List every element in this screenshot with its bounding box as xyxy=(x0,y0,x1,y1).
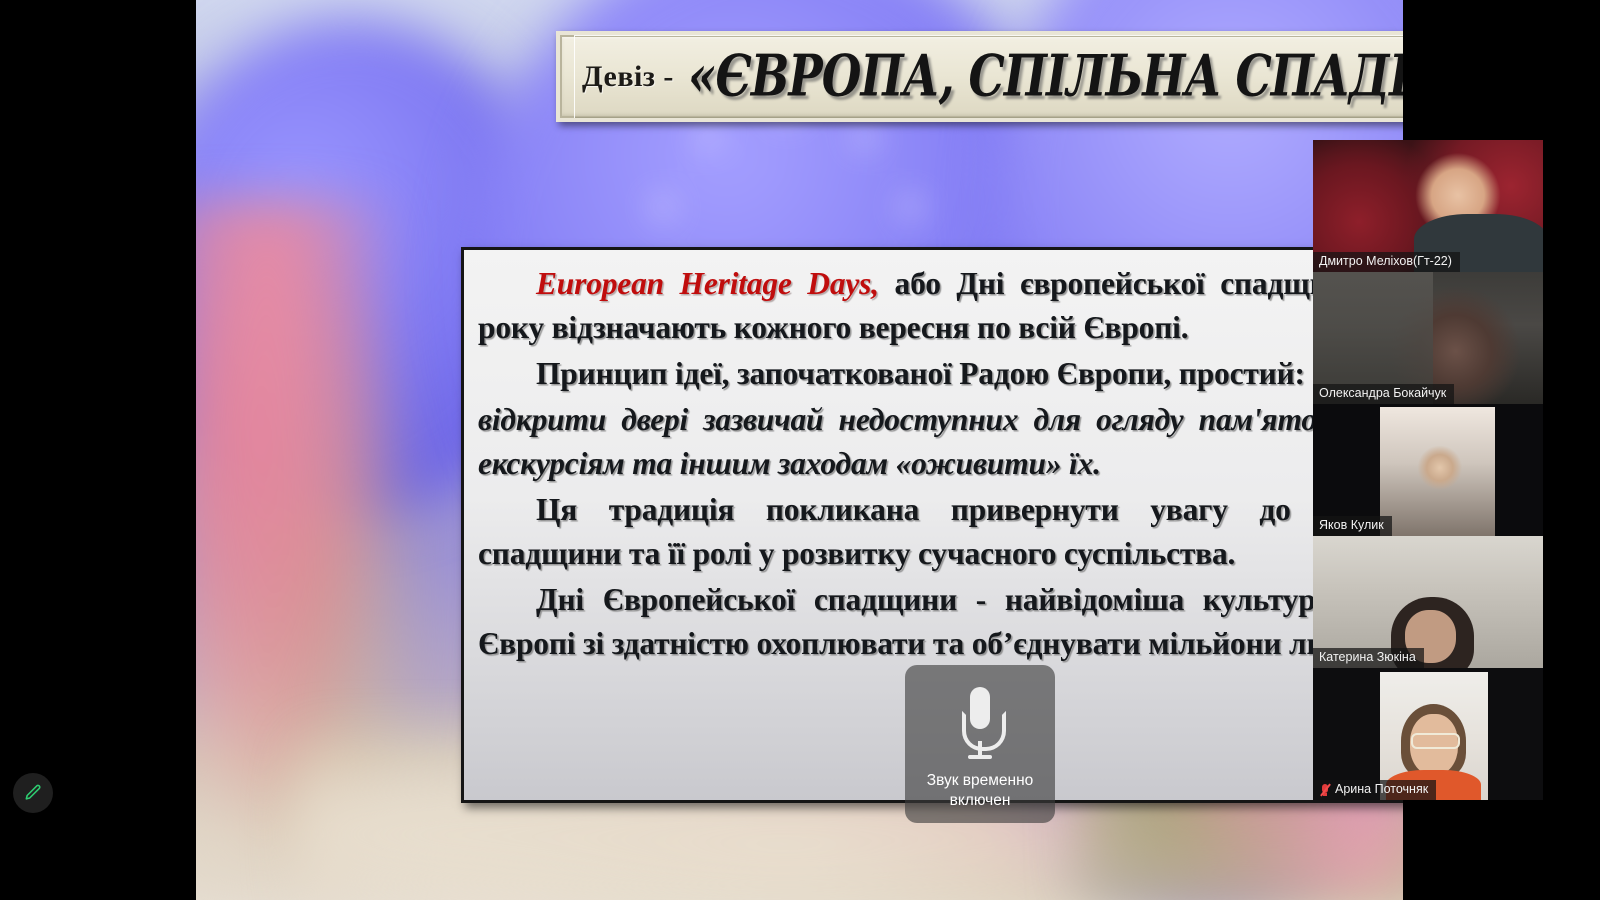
participant-name: Дмитро Меліхов(Гт-22) xyxy=(1313,252,1460,272)
slide-paragraph-2: Принцип ідеї, започаткованої Радою Європ… xyxy=(478,352,1403,396)
mic-status-text: Звук временно включен xyxy=(927,771,1034,811)
participant-name: Катерина Зюкіна xyxy=(1313,648,1424,668)
participant-name: Арина Поточняк xyxy=(1313,780,1436,800)
participant-name: Олександра Бокайчук xyxy=(1313,384,1454,404)
microphone-icon xyxy=(958,687,1002,763)
participant-name: Яков Кулик xyxy=(1313,516,1392,536)
participant-name-text: Катерина Зюкіна xyxy=(1319,649,1416,666)
participant-name-text: Олександра Бокайчук xyxy=(1319,385,1446,402)
participant-tile[interactable]: Яков Кулик xyxy=(1313,404,1543,536)
english-term: European Heritage Days, xyxy=(536,266,879,301)
slide-paragraph-5: Дні Європейської спадщини - найвідоміша … xyxy=(478,578,1403,666)
mic-status-toast: Звук временно включен xyxy=(905,665,1055,823)
participant-tile[interactable]: Арина Поточняк xyxy=(1313,668,1543,800)
shared-slide[interactable]: Девіз - «ЄВРОПА, СПІЛЬНА СПАДЩИНА» Europ… xyxy=(196,0,1403,900)
slide-title-banner: Девіз - «ЄВРОПА, СПІЛЬНА СПАДЩИНА» xyxy=(556,31,1403,122)
slide-paragraph-4: Ця традиція покликана привернути увагу д… xyxy=(478,488,1403,576)
participant-name-text: Яков Кулик xyxy=(1319,517,1384,534)
mic-status-line2: включен xyxy=(927,791,1034,811)
annotate-button[interactable] xyxy=(13,773,53,813)
slide-title-motto: «ЄВРОПА, СПІЛЬНА СПАДЩИНА» xyxy=(688,43,1403,110)
participant-name-text: Дмитро Меліхов(Гт-22) xyxy=(1319,253,1452,270)
participant-filmstrip[interactable]: Дмитро Меліхов(Гт-22) Олександра Бокайчу… xyxy=(1313,140,1543,800)
slide-paragraph-3: відкрити двері зазвичай недоступних для … xyxy=(478,398,1403,486)
participant-tile[interactable]: Дмитро Меліхов(Гт-22) xyxy=(1313,140,1543,272)
meeting-screen-share-view: Девіз - «ЄВРОПА, СПІЛЬНА СПАДЩИНА» Europ… xyxy=(0,0,1600,900)
slide-title-prefix: Девіз - xyxy=(582,60,674,94)
participant-tile-active-speaker[interactable]: Катерина Зюкіна xyxy=(1313,536,1543,668)
mic-muted-icon xyxy=(1319,783,1331,797)
participant-tile[interactable]: Олександра Бокайчук xyxy=(1313,272,1543,404)
mic-status-line1: Звук временно xyxy=(927,771,1034,791)
pencil-icon xyxy=(23,783,43,803)
participant-name-text: Арина Поточняк xyxy=(1335,781,1428,798)
slide-paragraph-1: European Heritage Days, або Дні європейс… xyxy=(478,262,1403,350)
